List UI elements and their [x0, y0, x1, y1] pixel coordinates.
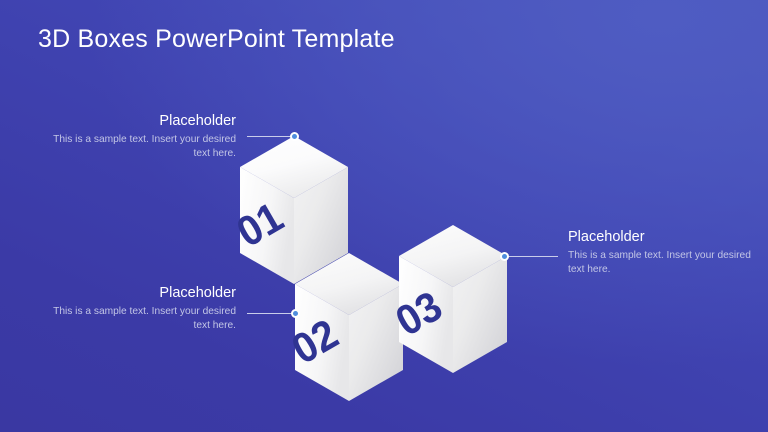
slide-canvas: 3D Boxes PowerPoint Template — [0, 0, 768, 432]
callout-2[interactable]: Placeholder This is a sample text. Inser… — [46, 285, 236, 334]
callout-1-body: This is a sample text. Insert your desir… — [46, 133, 236, 161]
callout-1[interactable]: Placeholder This is a sample text. Inser… — [46, 113, 236, 162]
connector-dot-3[interactable] — [500, 252, 509, 261]
callout-2-title: Placeholder — [46, 285, 236, 302]
connector-dot-2[interactable] — [291, 309, 300, 318]
leader-line-1 — [247, 136, 291, 137]
callout-2-body: This is a sample text. Insert your desir… — [46, 305, 236, 333]
connector-dot-1[interactable] — [290, 132, 299, 141]
leader-line-3 — [508, 256, 558, 257]
callout-3[interactable]: Placeholder This is a sample text. Inser… — [568, 229, 758, 278]
callout-3-title: Placeholder — [568, 229, 758, 246]
callout-1-title: Placeholder — [46, 113, 236, 130]
cube-01: 01 — [229, 136, 348, 284]
cube-03: 03 — [388, 225, 507, 373]
callout-3-body: This is a sample text. Insert your desir… — [568, 249, 758, 277]
3d-cube-stack: 01 02 03 — [0, 0, 768, 432]
leader-line-2 — [247, 313, 293, 314]
